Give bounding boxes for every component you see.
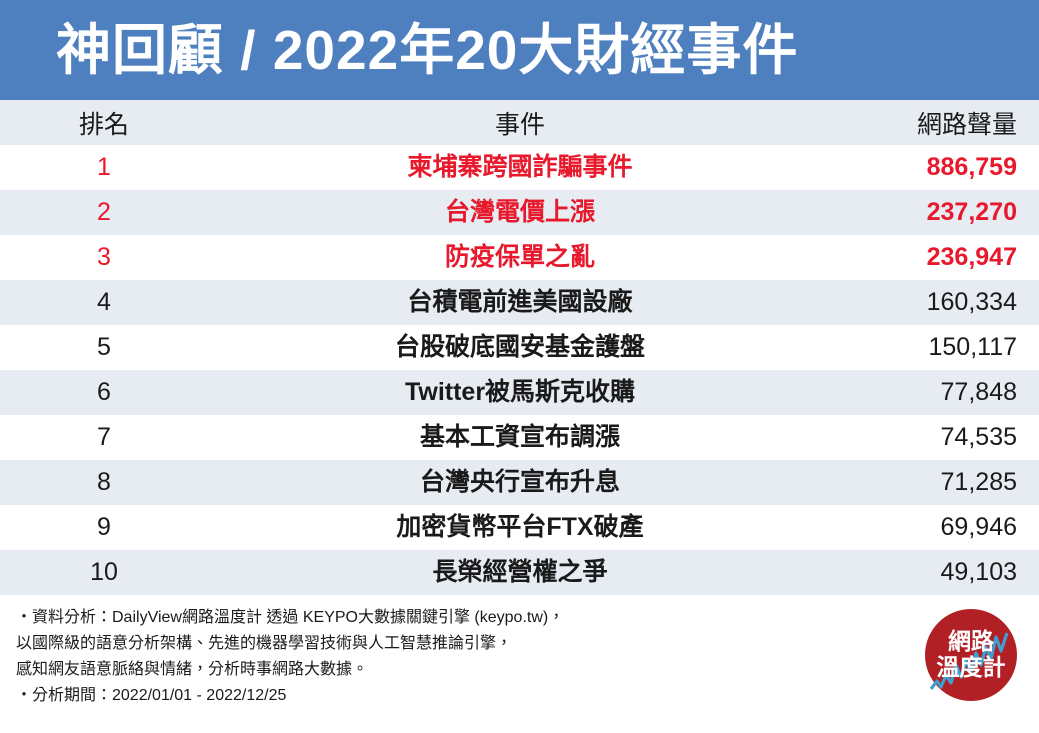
cell-volume: 74,535 xyxy=(832,415,1039,460)
footnote-period: ・分析期間：2022/01/01 - 2022/12/25 xyxy=(16,683,1039,709)
table-row: 3 防疫保單之亂 236,947 xyxy=(0,235,1039,280)
footnote-source-line2: 以國際級的語意分析架構、先進的機器學習技術與人工智慧推論引擎， xyxy=(16,631,1039,657)
cell-volume: 160,334 xyxy=(832,280,1039,325)
table-row: 6 Twitter被馬斯克收購 77,848 xyxy=(0,370,1039,415)
logo-text-line1: 網路 xyxy=(948,628,995,654)
cell-volume: 49,103 xyxy=(832,550,1039,595)
cell-rank: 5 xyxy=(0,325,208,370)
cell-event: 加密貨幣平台FTX破產 xyxy=(208,505,832,550)
table-row: 5 台股破底國安基金護盤 150,117 xyxy=(0,325,1039,370)
cell-rank: 7 xyxy=(0,415,208,460)
ranking-table: 排名 事件 網路聲量 1 柬埔寨跨國詐騙事件 886,759 2 台灣電價上漲 … xyxy=(0,100,1039,595)
logo-text-line2: 溫度計 xyxy=(937,654,1006,680)
column-header-rank: 排名 xyxy=(0,100,208,145)
footnote-source-line1: ・資料分析：DailyView網路溫度計 透過 KEYPO大數據關鍵引擎 (ke… xyxy=(16,605,1039,631)
table-row: 8 台灣央行宣布升息 71,285 xyxy=(0,460,1039,505)
table-row: 10 長榮經營權之爭 49,103 xyxy=(0,550,1039,595)
cell-event: 台灣央行宣布升息 xyxy=(208,460,832,505)
table-body: 1 柬埔寨跨國詐騙事件 886,759 2 台灣電價上漲 237,270 3 防… xyxy=(0,145,1039,595)
cell-volume: 71,285 xyxy=(832,460,1039,505)
table-row: 9 加密貨幣平台FTX破產 69,946 xyxy=(0,505,1039,550)
table-header: 排名 事件 網路聲量 xyxy=(0,100,1039,145)
cell-rank: 9 xyxy=(0,505,208,550)
cell-volume: 236,947 xyxy=(832,235,1039,280)
cell-rank: 1 xyxy=(0,145,208,190)
table-header-row: 排名 事件 網路聲量 xyxy=(0,100,1039,145)
cell-event: 長榮經營權之爭 xyxy=(208,550,832,595)
cell-event: 基本工資宣布調漲 xyxy=(208,415,832,460)
column-header-event: 事件 xyxy=(208,100,832,145)
cell-volume: 69,946 xyxy=(832,505,1039,550)
table-row: 4 台積電前進美國設廠 160,334 xyxy=(0,280,1039,325)
table-row: 2 台灣電價上漲 237,270 xyxy=(0,190,1039,235)
cell-event: 防疫保單之亂 xyxy=(208,235,832,280)
cell-event: Twitter被馬斯克收購 xyxy=(208,370,832,415)
cell-volume: 237,270 xyxy=(832,190,1039,235)
brand-logo: 網路 溫度計 xyxy=(919,603,1023,707)
footnote-source-line3: 感知網友語意脈絡與情緒，分析時事網路大數據。 xyxy=(16,657,1039,683)
cell-rank: 10 xyxy=(0,550,208,595)
column-header-volume: 網路聲量 xyxy=(832,100,1039,145)
cell-volume: 886,759 xyxy=(832,145,1039,190)
cell-event: 台灣電價上漲 xyxy=(208,190,832,235)
cell-volume: 150,117 xyxy=(832,325,1039,370)
cell-event: 台積電前進美國設廠 xyxy=(208,280,832,325)
table-row: 1 柬埔寨跨國詐騙事件 886,759 xyxy=(0,145,1039,190)
footer: ・資料分析：DailyView網路溫度計 透過 KEYPO大數據關鍵引擎 (ke… xyxy=(0,595,1039,731)
cell-rank: 3 xyxy=(0,235,208,280)
cell-event: 柬埔寨跨國詐騙事件 xyxy=(208,145,832,190)
page-title: 神回顧 / 2022年20大財經事件 xyxy=(56,23,798,78)
cell-rank: 8 xyxy=(0,460,208,505)
cell-rank: 6 xyxy=(0,370,208,415)
table-row: 7 基本工資宣布調漲 74,535 xyxy=(0,415,1039,460)
cell-rank: 2 xyxy=(0,190,208,235)
cell-rank: 4 xyxy=(0,280,208,325)
infographic-root: 神回顧 / 2022年20大財經事件 排名 事件 網路聲量 1 柬埔寨跨國詐騙事… xyxy=(0,0,1039,733)
cell-event: 台股破底國安基金護盤 xyxy=(208,325,832,370)
page-header: 神回顧 / 2022年20大財經事件 xyxy=(0,0,1039,100)
cell-volume: 77,848 xyxy=(832,370,1039,415)
